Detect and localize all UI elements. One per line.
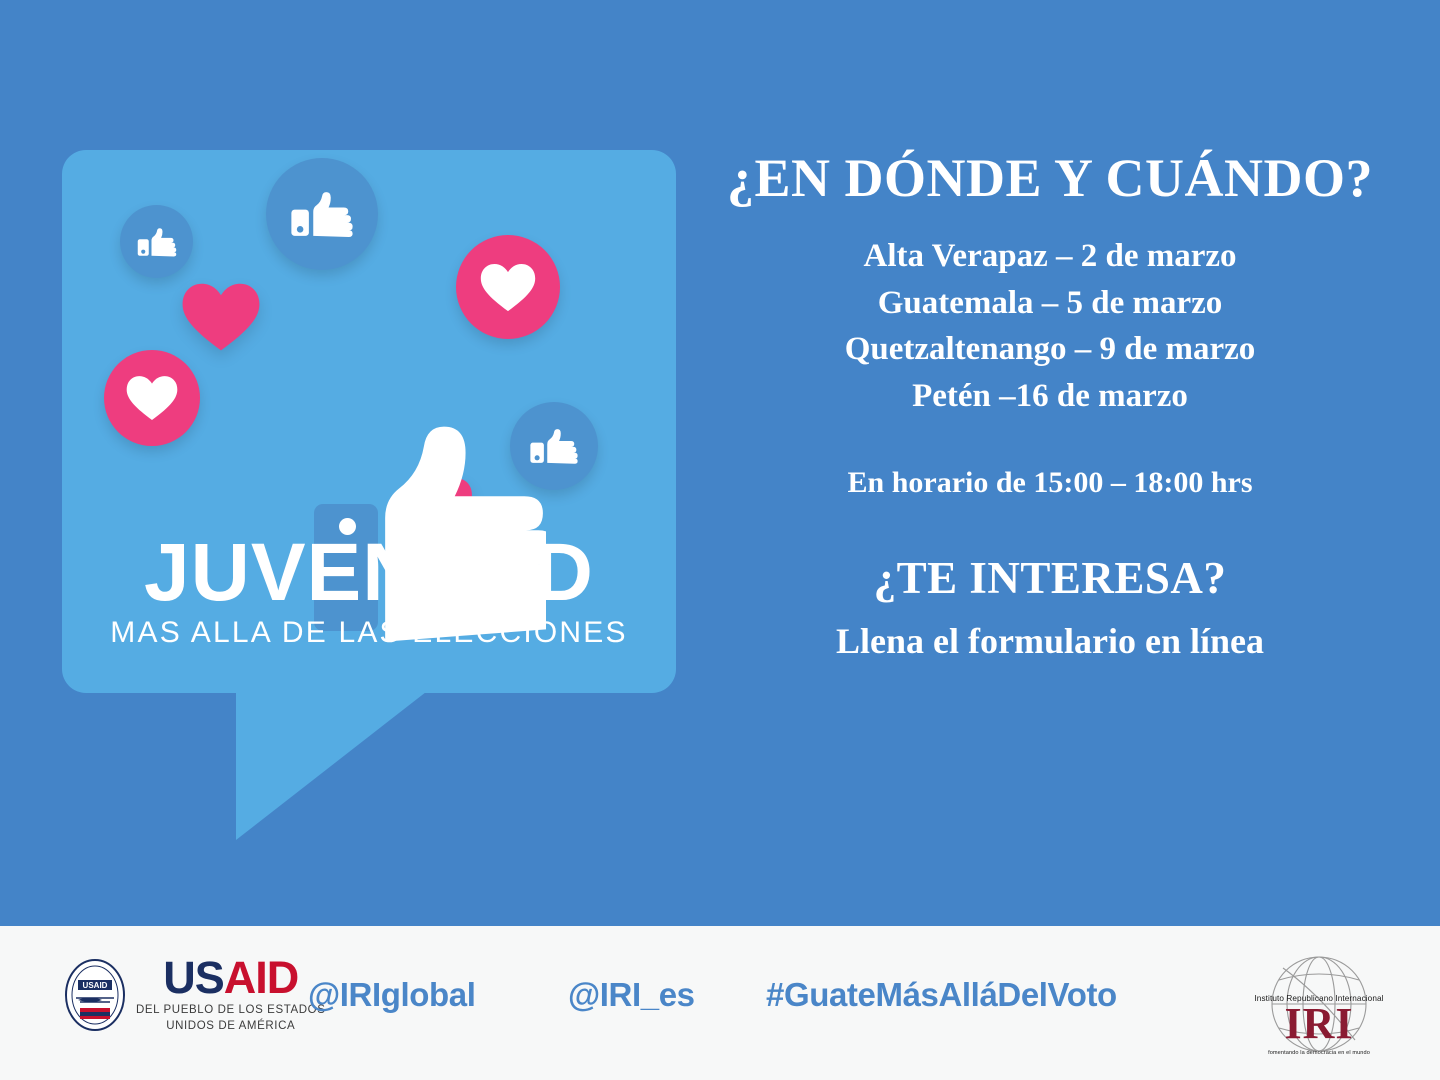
event-date-item: Alta Verapaz – 2 de marzo xyxy=(700,233,1400,280)
form-call-to-action: Llena el formulario en línea xyxy=(700,620,1400,662)
usaid-tagline-line2: UNIDOS DE AMÉRICA xyxy=(136,1019,325,1035)
svg-text:USAID: USAID xyxy=(83,981,108,990)
usaid-tagline-line1: DEL PUEBLO DE LOS ESTADOS xyxy=(136,1003,325,1019)
event-date-item: Petén –16 de marzo xyxy=(700,373,1400,420)
social-handle-iriglobal[interactable]: @IRIglobal xyxy=(308,976,476,1014)
usaid-tagline: DEL PUEBLO DE LOS ESTADOS UNIDOS DE AMÉR… xyxy=(136,1003,325,1034)
event-date-item: Guatemala – 5 de marzo xyxy=(700,280,1400,327)
thumbs-up-reaction-icon-large xyxy=(266,158,378,270)
heart-reaction-icon-right xyxy=(456,235,560,339)
social-hashtag-guatemas[interactable]: #GuateMásAlláDelVoto xyxy=(766,976,1117,1014)
wordmark-tagline: MAS ALLA DE LAS ELECCIONES xyxy=(62,616,676,650)
juventud-wordmark: JUVENTUD MAS ALLA DE LAS ELECCIONES xyxy=(62,535,676,650)
usaid-logo: USAID USAID DEL PUEBLO DE LOS ESTADOS UN… xyxy=(64,955,325,1034)
where-when-heading: ¿EN DÓNDE Y CUÁNDO? xyxy=(700,150,1400,207)
poster-canvas: JUVENTUD MAS ALLA DE LAS ELECCIONES ¿EN … xyxy=(0,0,1440,1080)
usaid-text-block: USAID DEL PUEBLO DE LOS ESTADOS UNIDOS D… xyxy=(136,955,325,1034)
floating-heart-icon-upper xyxy=(180,281,262,358)
social-handle-iri-es[interactable]: @IRI_es xyxy=(568,976,695,1014)
usaid-wordmark: USAID xyxy=(163,955,298,1000)
usaid-word-us: US xyxy=(163,952,224,1003)
juventud-logo-artwork: JUVENTUD MAS ALLA DE LAS ELECCIONES xyxy=(62,150,676,830)
usaid-word-aid: AID xyxy=(224,952,299,1003)
iri-tagline: fomentando la democracia en el mundo xyxy=(1243,1050,1395,1056)
iri-wordmark: IRI xyxy=(1243,1002,1395,1046)
speech-bubble-tail xyxy=(236,692,426,840)
iri-logo: Instituto Republicano Internacional IRI … xyxy=(1243,952,1395,1060)
wordmark-title: JUVENTUD xyxy=(62,535,676,610)
usaid-seal-icon: USAID xyxy=(64,958,126,1032)
event-date-item: Quetzaltenango – 9 de marzo xyxy=(700,326,1400,373)
event-details-column: ¿EN DÓNDE Y CUÁNDO? Alta Verapaz – 2 de … xyxy=(700,150,1400,662)
event-date-list: Alta Verapaz – 2 de marzo Guatemala – 5 … xyxy=(700,233,1400,420)
main-blue-panel: JUVENTUD MAS ALLA DE LAS ELECCIONES ¿EN … xyxy=(0,0,1440,926)
interest-heading: ¿TE INTERESA? xyxy=(700,552,1400,604)
event-schedule-text: En horario de 15:00 – 18:00 hrs xyxy=(700,466,1400,500)
heart-reaction-icon-left xyxy=(104,350,200,446)
thumbs-up-reaction-icon-small xyxy=(120,205,193,278)
